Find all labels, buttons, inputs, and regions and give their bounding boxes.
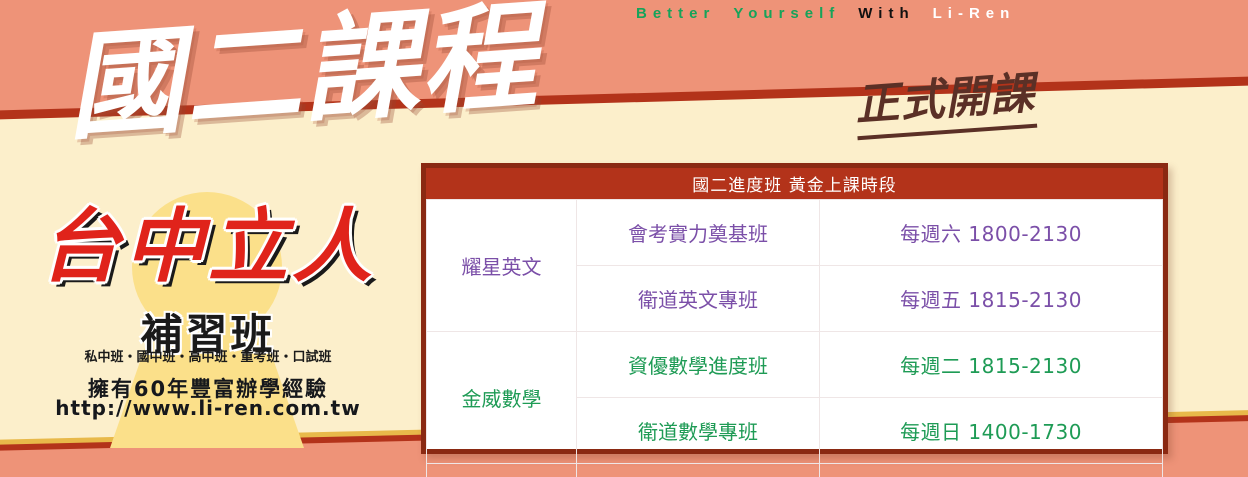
school-logo: 台中立人 補習班 私中班・國中班・高中班・重考班・口試班 擁有60年豐富辦學經驗…	[28, 188, 388, 420]
time-cell: 每週二 1815-2130	[820, 332, 1163, 398]
tagline-word-with: With	[858, 5, 914, 22]
course-cell: 資優理化進度班	[577, 464, 820, 477]
time-cell: 每週六 1800-2130	[820, 200, 1163, 266]
course-cell: 衛道數學專班	[577, 398, 820, 464]
time-cell: 每週四 1815-2130	[820, 464, 1163, 477]
schedule-grid: 耀星英文 會考實力奠基班 每週六 1800-2130 衛道英文專班 每週五 18…	[426, 199, 1163, 477]
course-cell: 資優數學進度班	[577, 332, 820, 398]
table-row: 耀星英文 會考實力奠基班 每週六 1800-2130	[427, 200, 1163, 266]
table-row: 楊過自然 資優理化進度班 每週四 1815-2130	[427, 464, 1163, 477]
tagline-word-better: Better	[636, 5, 715, 22]
schedule-table-header: 國二進度班 黃金上課時段	[426, 168, 1163, 199]
subject-cell-math: 金威數學	[427, 332, 577, 464]
tagline-word-yourself: Yourself	[733, 5, 840, 22]
logo-class-list: 私中班・國中班・高中班・重考班・口試班	[28, 346, 388, 365]
brand-tagline: Better Yourself With Li-Ren	[636, 0, 1248, 26]
page-title: 國二課程	[62, 0, 541, 150]
schedule-table: 國二進度班 黃金上課時段 耀星英文 會考實力奠基班 每週六 1800-2130 …	[421, 163, 1168, 454]
time-cell: 每週五 1815-2130	[820, 266, 1163, 332]
logo-school-name: 台中立人	[28, 206, 388, 286]
tagline-word-liren: Li-Ren	[933, 5, 1016, 22]
table-row: 金威數學 資優數學進度班 每週二 1815-2130	[427, 332, 1163, 398]
course-cell: 衛道英文專班	[577, 266, 820, 332]
time-cell: 每週日 1400-1730	[820, 398, 1163, 464]
subject-cell-english: 耀星英文	[427, 200, 577, 332]
promo-banner: Better Yourself With Li-Ren 國二課程 正式開課 台中…	[0, 0, 1248, 477]
subject-cell-science: 楊過自然	[427, 464, 577, 477]
course-cell: 會考實力奠基班	[577, 200, 820, 266]
logo-website-url[interactable]: http://www.li-ren.com.tw	[28, 396, 388, 420]
headline-subtitle: 正式開課	[853, 57, 1038, 140]
